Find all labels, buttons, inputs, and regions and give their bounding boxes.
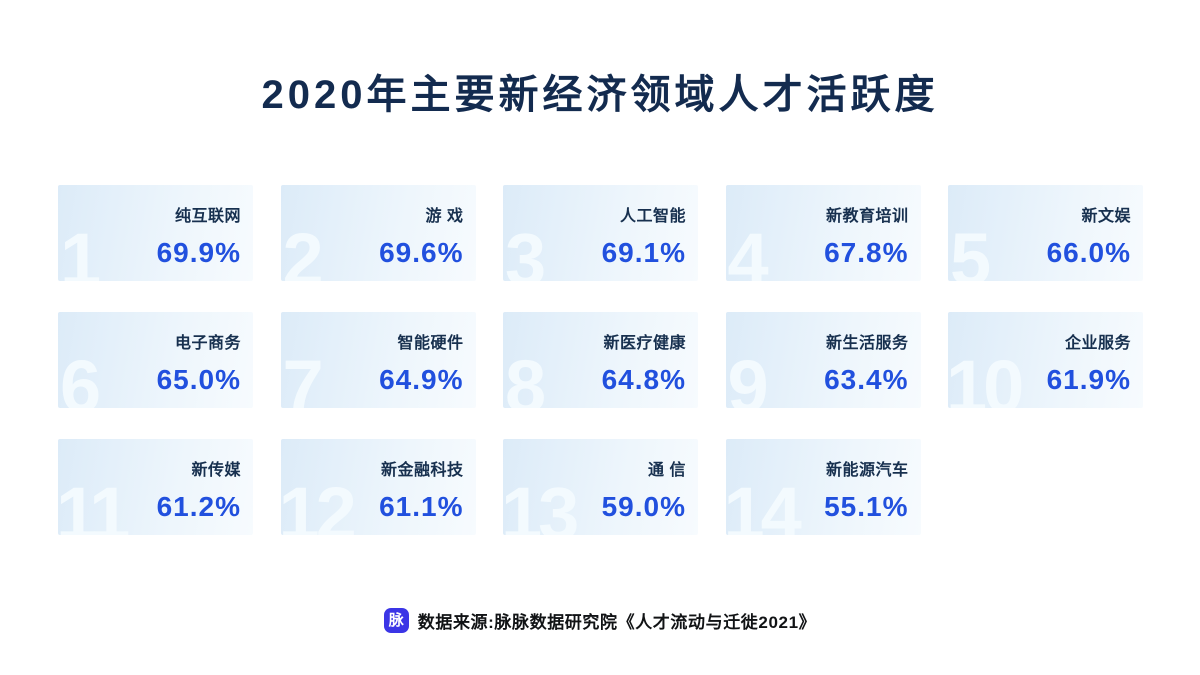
- sector-label: 企业服务: [1065, 329, 1131, 353]
- activity-value: 59.0%: [602, 491, 686, 523]
- ranking-card-grid: 1 纯互联网 69.9% 2 游 戏 69.6% 3 人工智能 69.1% 4 …: [58, 185, 1143, 535]
- ranking-card: 11 新传媒 61.2%: [58, 439, 253, 535]
- ranking-card: 8 新医疗健康 64.8%: [503, 312, 698, 408]
- rank-number: 4: [728, 223, 767, 281]
- rank-number: 7: [283, 350, 322, 408]
- sector-label: 新传媒: [191, 456, 241, 480]
- rank-number: 10: [948, 350, 1020, 408]
- sector-label: 新能源汽车: [826, 456, 909, 480]
- activity-value: 64.8%: [602, 364, 686, 396]
- ranking-card: 4 新教育培训 67.8%: [726, 185, 921, 281]
- rank-number: 6: [60, 350, 99, 408]
- sector-label: 新生活服务: [826, 329, 909, 353]
- activity-value: 65.0%: [157, 364, 241, 396]
- activity-value: 69.9%: [157, 237, 241, 269]
- sector-label: 游 戏: [426, 202, 464, 226]
- activity-value: 67.8%: [824, 237, 908, 269]
- rank-number: 11: [58, 477, 126, 535]
- activity-value: 69.6%: [379, 237, 463, 269]
- activity-value: 66.0%: [1047, 237, 1131, 269]
- rank-number: 3: [505, 223, 544, 281]
- source-footer: 脉 数据来源:脉脉数据研究院《人才流动与迁徙2021》: [0, 608, 1200, 633]
- rank-number: 13: [503, 477, 575, 535]
- rank-number: 5: [950, 223, 989, 281]
- ranking-card: 3 人工智能 69.1%: [503, 185, 698, 281]
- page-title: 2020年主要新经济领域人才活跃度: [0, 62, 1200, 120]
- sector-label: 人工智能: [620, 202, 686, 226]
- ranking-card: 5 新文娱 66.0%: [948, 185, 1143, 281]
- activity-value: 63.4%: [824, 364, 908, 396]
- rank-number: 12: [281, 477, 353, 535]
- infographic-page: 2020年主要新经济领域人才活跃度 1 纯互联网 69.9% 2 游 戏 69.…: [0, 0, 1200, 675]
- activity-value: 55.1%: [824, 491, 908, 523]
- sector-label: 纯互联网: [175, 202, 241, 226]
- activity-value: 69.1%: [602, 237, 686, 269]
- rank-number: 14: [726, 477, 798, 535]
- sector-label: 新教育培训: [826, 202, 909, 226]
- rank-number: 9: [728, 350, 767, 408]
- activity-value: 61.1%: [379, 491, 463, 523]
- sector-label: 通 信: [648, 456, 686, 480]
- source-text: 数据来源:脉脉数据研究院《人才流动与迁徙2021》: [418, 608, 816, 633]
- ranking-card: 14 新能源汽车 55.1%: [726, 439, 921, 535]
- activity-value: 61.2%: [157, 491, 241, 523]
- rank-number: 2: [283, 223, 322, 281]
- ranking-card: 10 企业服务 61.9%: [948, 312, 1143, 408]
- ranking-card: 2 游 戏 69.6%: [281, 185, 476, 281]
- sector-label: 电子商务: [175, 329, 241, 353]
- ranking-card: 12 新金融科技 61.1%: [281, 439, 476, 535]
- sector-label: 新金融科技: [381, 456, 464, 480]
- rank-number: 1: [60, 223, 99, 281]
- sector-label: 智能硬件: [397, 329, 463, 353]
- sector-label: 新文娱: [1081, 202, 1131, 226]
- sector-label: 新医疗健康: [603, 329, 686, 353]
- ranking-card: 1 纯互联网 69.9%: [58, 185, 253, 281]
- rank-number: 8: [505, 350, 544, 408]
- activity-value: 64.9%: [379, 364, 463, 396]
- maimai-logo-icon: 脉: [384, 608, 409, 633]
- ranking-card: 7 智能硬件 64.9%: [281, 312, 476, 408]
- activity-value: 61.9%: [1047, 364, 1131, 396]
- ranking-card: 9 新生活服务 63.4%: [726, 312, 921, 408]
- ranking-card: 13 通 信 59.0%: [503, 439, 698, 535]
- ranking-card: 6 电子商务 65.0%: [58, 312, 253, 408]
